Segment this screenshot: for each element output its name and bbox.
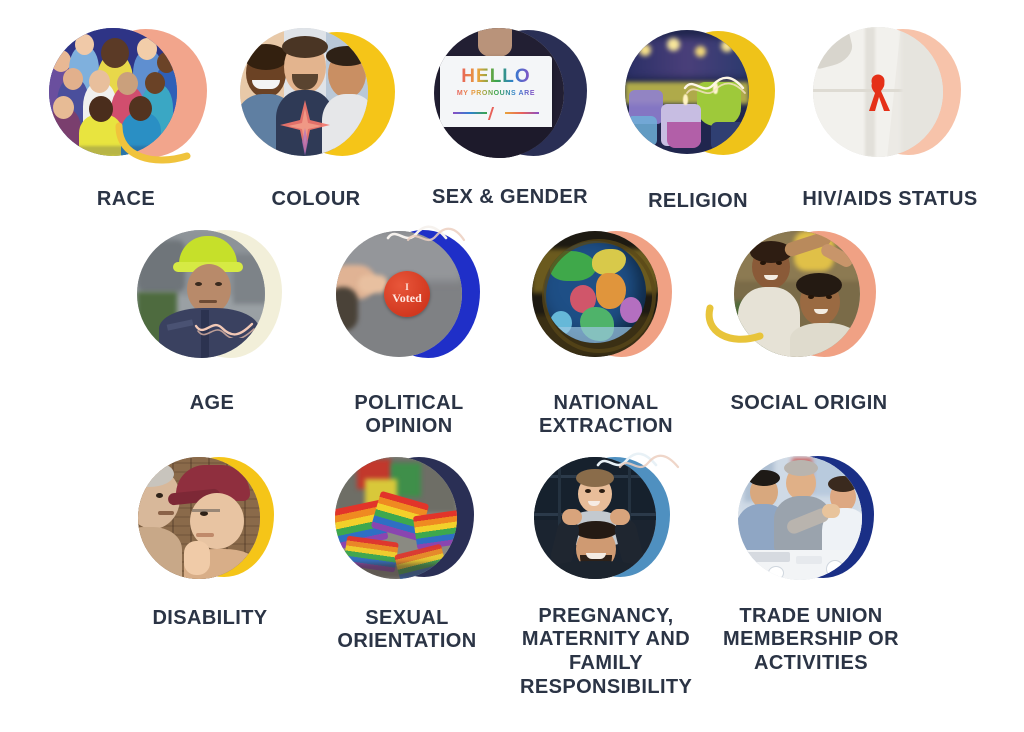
ground-card-sexual-orientation[interactable]: SEXUAL ORIENTATION xyxy=(310,449,504,654)
candles-icon xyxy=(625,30,749,154)
ground-card-age[interactable]: AGE xyxy=(112,220,312,416)
national-extraction-label: NATIONAL EXTRACTION xyxy=(528,392,684,439)
colour-photo xyxy=(240,28,368,156)
hiv-aids-media xyxy=(787,18,993,170)
sexual-orientation-photo xyxy=(335,457,457,579)
children-playing-icon xyxy=(734,231,860,357)
ground-card-disability[interactable]: DISABILITY xyxy=(110,449,310,631)
sexual-orientation-media xyxy=(310,449,504,589)
trade-union-photo xyxy=(738,456,862,580)
sex-gender-label: SEX & GENDER xyxy=(432,186,588,210)
ground-card-race[interactable]: RACE xyxy=(31,18,221,212)
national-extraction-photo xyxy=(532,231,658,357)
ground-card-pregnancy-maternity-family[interactable]: PREGNANCY, MATERNITY AND FAMILY RESPONSI… xyxy=(504,449,708,699)
ground-card-social-origin[interactable]: SOCIAL ORIGIN xyxy=(706,220,912,416)
grounds-row-2: AGE xyxy=(0,214,1024,439)
ground-card-colour[interactable]: COLOUR xyxy=(221,18,411,212)
disability-label: DISABILITY xyxy=(152,607,267,631)
globe-icon xyxy=(532,231,658,357)
social-origin-media xyxy=(706,220,912,372)
disability-photo xyxy=(138,457,260,579)
red-ribbon-icon xyxy=(813,27,943,157)
elderly-worker-icon xyxy=(137,230,265,358)
race-label: RACE xyxy=(97,188,155,212)
ground-card-hiv-aids-status[interactable]: HIV/AIDS STATUS xyxy=(787,18,993,212)
ground-card-sex-gender[interactable]: HELLO MY PRONOUNS ARE SEX & GENDER xyxy=(411,18,609,210)
religion-media xyxy=(609,18,787,170)
ground-card-religion[interactable]: RELIGION xyxy=(609,18,787,214)
pink-starburst-icon xyxy=(278,98,332,156)
age-photo xyxy=(137,230,265,358)
colour-media xyxy=(221,18,411,170)
disability-media xyxy=(110,449,310,589)
political-opinion-photo: I Voted xyxy=(336,231,462,357)
sign-subtitle-text: MY PRONOUNS ARE xyxy=(457,90,535,97)
age-label: AGE xyxy=(190,392,235,416)
i-voted-sticker-icon: I Voted xyxy=(336,231,462,357)
ground-card-trade-union[interactable]: TRADE UNION MEMBERSHIP OR ACTIVITIES xyxy=(708,449,914,676)
father-and-child-icon xyxy=(534,457,656,579)
grounds-row-1: RACE xyxy=(0,0,1024,214)
race-photo xyxy=(49,28,177,156)
hiv-aids-photo xyxy=(813,27,943,157)
pronouns-sign-icon: HELLO MY PRONOUNS ARE xyxy=(434,28,564,158)
social-origin-photo xyxy=(734,231,860,357)
religion-photo xyxy=(625,30,749,154)
national-extraction-media xyxy=(506,220,706,372)
trade-union-label: TRADE UNION MEMBERSHIP OR ACTIVITIES xyxy=(722,605,900,676)
religion-label: RELIGION xyxy=(648,190,748,214)
colour-label: COLOUR xyxy=(271,188,360,212)
crowd-illustration-icon xyxy=(49,28,177,156)
pregnancy-media xyxy=(504,449,708,589)
pregnancy-photo xyxy=(534,457,656,579)
two-men-talking-icon xyxy=(138,457,260,579)
hiv-aids-label: HIV/AIDS STATUS xyxy=(802,188,977,212)
sex-gender-media: HELLO MY PRONOUNS ARE xyxy=(411,18,609,170)
race-media xyxy=(31,18,221,170)
trade-union-media xyxy=(708,449,914,589)
voted-sticker-line2: Voted xyxy=(392,292,422,305)
ground-card-national-extraction[interactable]: NATIONAL EXTRACTION xyxy=(506,220,706,439)
sign-greeting-text: HELLO xyxy=(461,67,530,86)
political-opinion-label: POLITICAL OPINION xyxy=(334,392,484,439)
sex-gender-photo: HELLO MY PRONOUNS ARE xyxy=(434,28,564,158)
sexual-orientation-label: SEXUAL ORIENTATION xyxy=(332,607,482,654)
three-men-portrait-icon xyxy=(240,28,368,156)
pride-flags-icon xyxy=(335,457,457,579)
social-origin-label: SOCIAL ORIGIN xyxy=(730,392,887,416)
ground-card-political-opinion[interactable]: I Voted POLITICAL OPINION xyxy=(312,220,506,439)
political-opinion-media: I Voted xyxy=(312,220,506,372)
aids-ribbon-glyph-icon xyxy=(863,71,893,113)
age-media xyxy=(112,220,312,372)
pregnancy-label: PREGNANCY, MATERNITY AND FAMILY RESPONSI… xyxy=(520,605,692,699)
discrimination-grounds-infographic: RACE xyxy=(0,0,1024,732)
meeting-table-icon xyxy=(738,456,862,580)
grounds-row-3: DISABILITY xyxy=(0,439,1024,699)
